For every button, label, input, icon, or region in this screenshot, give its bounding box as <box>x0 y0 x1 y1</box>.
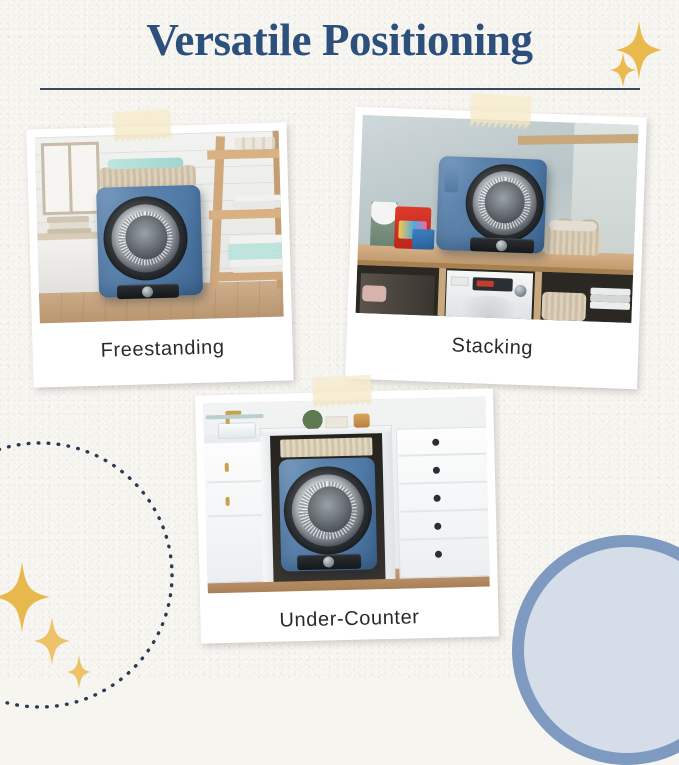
upper-shelf <box>518 134 638 145</box>
sink-basin <box>218 422 256 439</box>
right-drawer-chest <box>396 427 490 579</box>
detergent-box <box>412 229 435 250</box>
left-vanity <box>203 440 267 583</box>
bench <box>35 236 99 294</box>
washer-drawer <box>451 276 469 286</box>
dryer-side-vent <box>444 166 459 192</box>
page-title: Versatile Positioning <box>0 17 679 64</box>
counter-box <box>326 416 348 429</box>
card-freestanding[interactable]: Freestanding <box>26 122 293 387</box>
basket-linens <box>549 220 597 232</box>
washi-tape-under-counter <box>312 375 371 403</box>
photo-freestanding <box>35 131 284 324</box>
washi-tape-freestanding <box>114 109 171 138</box>
washi-tape-stacking <box>470 93 531 124</box>
niche-shelf-basket <box>280 437 372 457</box>
vanity-drawer-knob <box>225 497 229 506</box>
cubby-pink-item <box>362 285 387 302</box>
corner-sparkle-small-icon <box>66 655 92 689</box>
caption-under-counter: Under-Counter <box>208 605 490 635</box>
photo-under-counter <box>203 397 490 594</box>
card-under-counter[interactable]: Under-Counter <box>195 388 499 643</box>
title-divider <box>40 88 640 90</box>
cubby-basket <box>541 292 586 322</box>
cubby-towel <box>590 301 630 309</box>
basket-laundry <box>107 157 183 169</box>
counter-vase <box>354 413 370 427</box>
vanity-drawer-knob <box>225 463 229 472</box>
washer-display <box>477 280 494 287</box>
caption-freestanding: Freestanding <box>40 335 285 365</box>
card-stacking[interactable]: Stacking <box>345 107 647 390</box>
shelf-towel <box>233 201 283 209</box>
caption-stacking: Stacking <box>354 331 631 364</box>
photo-stacking <box>356 115 639 323</box>
counter-plant <box>301 407 324 430</box>
shelf-jars <box>235 137 275 150</box>
